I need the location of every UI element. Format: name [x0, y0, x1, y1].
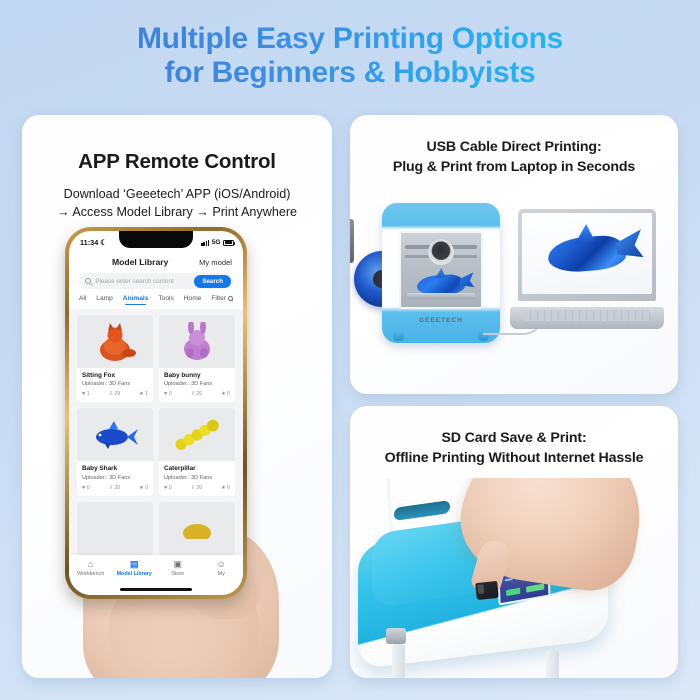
sd-card-title: SD Card Save & Print: Offline Printing W…	[350, 428, 678, 468]
laptop-screen	[522, 213, 652, 294]
store-icon: ▣	[173, 560, 182, 569]
print-bed	[407, 293, 475, 299]
model-grid: Sitting Fox Uploader.: 3D Fans ♥1 ⇩29 ★1	[69, 309, 243, 562]
filter-button[interactable]: Filter	[211, 295, 233, 302]
like-icon: ♥	[82, 391, 85, 397]
model-uploader: Uploader.: 3D Fans	[164, 381, 230, 387]
phone-notch-icon	[119, 231, 193, 248]
user-icon: ☺	[217, 560, 226, 569]
star-count: 0	[227, 391, 230, 397]
nav-label: Model Library	[117, 571, 152, 577]
home-icon: ⌂	[88, 560, 93, 569]
moon-icon: ☾	[100, 238, 107, 247]
cards-board: APP Remote Control Download ‘Geeetech’ A…	[0, 0, 700, 700]
download-count: 29	[114, 391, 120, 397]
model-stats: ♥0 ⇩20 ★0	[82, 485, 148, 491]
model-card-body: Caterpillar Uploader.: 3D Fans ♥0 ⇩20 ★0	[159, 461, 235, 495]
caterpillar-icon	[169, 413, 226, 457]
like-count: 0	[169, 391, 172, 397]
card-usb-direct-printing: USB Cable Direct Printing: Plug & Print …	[350, 115, 678, 394]
app-header: Model Library My model	[69, 251, 243, 271]
tab-my-model[interactable]: My model	[199, 258, 232, 267]
laptop-keyboard	[524, 310, 650, 321]
like-count: 1	[87, 391, 90, 397]
star-count: 0	[227, 485, 230, 491]
network-label: 5G	[212, 239, 221, 246]
printer-chamber	[399, 231, 483, 309]
status-time: 11:34	[80, 238, 98, 247]
tab-home[interactable]: Home	[184, 295, 202, 302]
model-card[interactable]	[77, 502, 153, 555]
nav-label: My	[218, 571, 225, 577]
model-card[interactable]: Baby Shark Uploader.: 3D Fans ♥0 ⇩20 ★0	[77, 408, 153, 495]
uploader-label: Uploader.:	[82, 381, 108, 387]
like-icon: ♥	[82, 485, 85, 491]
spool-arm	[350, 219, 354, 263]
filter-label: Filter	[211, 295, 226, 302]
tab-model-library[interactable]: Model Library	[112, 257, 168, 267]
printer-leg	[392, 644, 405, 678]
model-card-body: Sitting Fox Uploader.: 3D Fans ♥1 ⇩29 ★1	[77, 368, 153, 402]
shark-icon	[91, 420, 139, 450]
star-count: 1	[145, 391, 148, 397]
search-icon	[85, 278, 91, 284]
download-icon: ⇩	[108, 485, 113, 491]
model-uploader: Uploader.: 3D Fans	[82, 381, 148, 387]
download-icon: ⇩	[190, 391, 195, 397]
library-icon: ▤	[130, 560, 139, 569]
like-icon: ♥	[164, 485, 167, 491]
uploader-label: Uploader.:	[164, 381, 190, 387]
nav-my[interactable]: ☺ My	[200, 560, 244, 577]
nav-workbench[interactable]: ⌂ Workbench	[69, 560, 113, 577]
model-stats: ♥0 ⇩20 ★0	[164, 485, 230, 491]
uploader-name: 3D Fans	[191, 475, 212, 481]
star-count: 0	[145, 485, 148, 491]
download-count: 26	[196, 391, 202, 397]
shark-model-preview	[547, 233, 628, 274]
star-icon: ★	[221, 391, 226, 397]
filter-icon	[228, 296, 233, 301]
like-icon: ♥	[164, 391, 167, 397]
tab-animals[interactable]: Animals	[123, 295, 149, 302]
nav-label: Workbench	[77, 571, 104, 577]
search-button[interactable]: Search	[194, 275, 231, 288]
uploader-label: Uploader.:	[82, 475, 108, 481]
uploader-name: 3D Fans	[191, 381, 212, 387]
model-thumbnail-sitting-fox	[77, 315, 153, 368]
tab-tools[interactable]: Tools	[158, 295, 173, 302]
download-icon: ⇩	[190, 485, 195, 491]
search-input[interactable]: Please enter search content	[95, 278, 190, 285]
laptop-lid	[518, 209, 656, 301]
search-row: Please enter search content Search	[69, 271, 243, 289]
star-icon: ★	[139, 485, 144, 491]
model-thumbnail-caterpillar	[159, 408, 235, 461]
sd-illustration	[350, 478, 678, 678]
home-indicator	[120, 588, 192, 591]
model-thumbnail	[77, 502, 153, 555]
model-card[interactable]	[159, 502, 235, 555]
partial-model-icon	[180, 517, 214, 539]
search-bar[interactable]: Please enter search content Search	[79, 273, 233, 289]
star-icon: ★	[139, 391, 144, 397]
nav-store[interactable]: ▣ Store	[156, 560, 200, 577]
model-thumbnail	[159, 502, 235, 555]
model-card[interactable]: Baby bunny Uploader.: 3D Fans ♥0 ⇩26 ★0	[159, 315, 235, 402]
printer-brand-logo: GEEETECH	[419, 317, 463, 324]
like-count: 0	[169, 485, 172, 491]
model-card-body: Baby Shark Uploader.: 3D Fans ♥0 ⇩20 ★0	[77, 461, 153, 495]
smartphone: 11:34 ☾ 5G Model Library My model	[65, 227, 247, 599]
model-thumbnail-baby-bunny	[159, 315, 235, 368]
usb-illustration: GEEETECH	[350, 191, 678, 394]
usb-card-title: USB Cable Direct Printing: Plug & Print …	[350, 137, 678, 177]
tab-lamp[interactable]: Lamp	[96, 295, 113, 302]
nav-label: Store	[171, 571, 184, 577]
fox-icon	[93, 322, 137, 362]
model-stats: ♥1 ⇩29 ★1	[82, 391, 148, 397]
category-tabs: All Lamp Animals Tools Home Filter	[69, 289, 243, 305]
uploader-name: 3D Fans	[109, 475, 130, 481]
model-uploader: Uploader.: 3D Fans	[82, 475, 148, 481]
phone-bottom-nav: ⌂ Workbench ▤ Model Library ▣ Store ☺	[69, 555, 243, 595]
uploader-label: Uploader.:	[164, 475, 190, 481]
laptop-base	[510, 307, 664, 329]
battery-icon	[223, 240, 234, 246]
app-card-subtitle: Download ‘Geeetech’ APP (iOS/Android) → …	[22, 185, 332, 222]
model-name: Sitting Fox	[82, 372, 148, 379]
tab-all[interactable]: All	[79, 295, 86, 302]
tube-connector	[386, 628, 406, 644]
laptop	[510, 209, 664, 333]
card-app-remote-control: APP Remote Control Download ‘Geeetech’ A…	[22, 115, 332, 678]
sd-card	[475, 581, 499, 600]
printer-leg	[546, 650, 559, 678]
model-card-body: Baby bunny Uploader.: 3D Fans ♥0 ⇩26 ★0	[159, 368, 235, 402]
signal-bars-icon	[201, 240, 209, 246]
download-count: 20	[114, 485, 120, 491]
download-icon: ⇩	[108, 391, 113, 397]
like-count: 0	[87, 485, 90, 491]
phone-screen: 11:34 ☾ 5G Model Library My model	[69, 231, 243, 595]
app-card-title: APP Remote Control	[22, 150, 332, 174]
star-icon: ★	[221, 485, 226, 491]
model-thumbnail-baby-shark	[77, 408, 153, 461]
model-card[interactable]: Sitting Fox Uploader.: 3D Fans ♥1 ⇩29 ★1	[77, 315, 153, 402]
model-uploader: Uploader.: 3D Fans	[164, 475, 230, 481]
print-head-icon	[428, 239, 454, 265]
bunny-icon	[177, 322, 217, 362]
download-count: 20	[196, 485, 202, 491]
card-sd-card-printing: SD Card Save & Print: Offline Printing W…	[350, 406, 678, 678]
model-name: Baby Shark	[82, 465, 148, 472]
model-name: Caterpillar	[164, 465, 230, 472]
nav-model-library[interactable]: ▤ Model Library	[113, 560, 157, 577]
phone-illustration: 11:34 ☾ 5G Model Library My model	[47, 227, 307, 678]
model-stats: ♥0 ⇩26 ★0	[164, 391, 230, 397]
model-name: Baby bunny	[164, 372, 230, 379]
uploader-name: 3D Fans	[109, 381, 130, 387]
model-card[interactable]: Caterpillar Uploader.: 3D Fans ♥0 ⇩20 ★0	[159, 408, 235, 495]
